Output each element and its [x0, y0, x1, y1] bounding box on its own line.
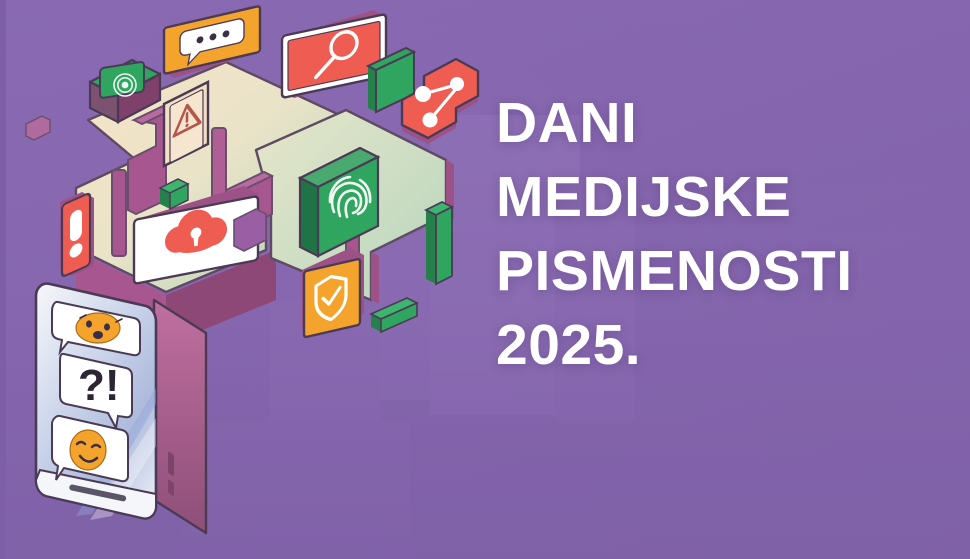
title-line-3: PISMENOSTI — [496, 234, 926, 308]
footer-logo-bar: unicef za svako dijete AGENCIJA ZA ELEKT… — [0, 493, 970, 559]
poster-banner: ?! DANI MEDIJSKE PISMENOSTI 2025. — [0, 0, 970, 559]
exclamation-mark-icon — [70, 208, 83, 260]
green-bar-card — [426, 202, 452, 284]
target-icon — [114, 74, 136, 96]
question-exclamation-text: ?! — [78, 361, 120, 410]
isometric-illustration: ?! — [16, 0, 486, 559]
title-line-2: MEDIJSKE — [496, 160, 926, 234]
smiling-face-icon — [70, 430, 106, 470]
page-title: DANI MEDIJSKE PISMENOSTI 2025. — [496, 86, 926, 382]
left-edge-strip — [0, 0, 6, 559]
purple-chip-left — [26, 116, 50, 140]
title-line-4: 2025. — [496, 308, 926, 382]
title-line-1: DANI — [496, 86, 926, 160]
alert-card — [60, 192, 94, 277]
